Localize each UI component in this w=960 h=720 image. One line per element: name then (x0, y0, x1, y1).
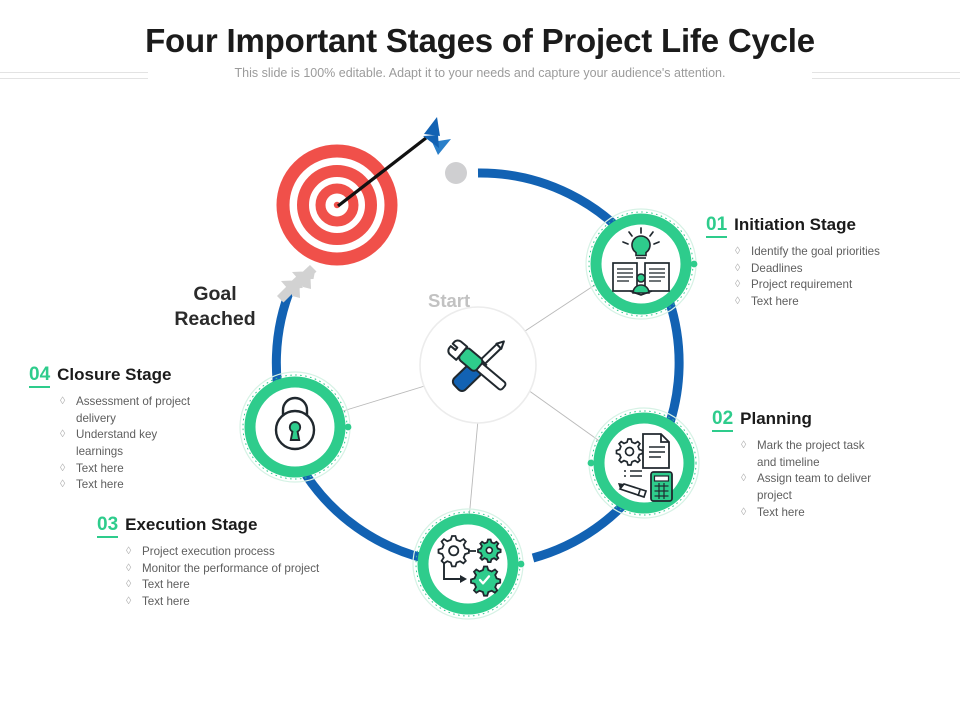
list-item: ◊Deadlines (729, 261, 880, 278)
center-hub[interactable] (420, 307, 536, 423)
list-item: ◊Text here (735, 505, 877, 522)
stage-title-04: Closure Stage (57, 365, 171, 385)
arc-03-to-04 (306, 475, 423, 558)
node-02[interactable] (588, 408, 699, 518)
bullet-text: Text here (76, 478, 124, 491)
bullet-text: Text here (751, 295, 799, 308)
start-label: Start (428, 290, 470, 312)
list-item: ◊Text here (54, 477, 196, 494)
diamond-bullet-icon: ◊ (735, 261, 740, 276)
start-dot (445, 162, 467, 184)
goal-label-line-2: Reached (174, 308, 255, 330)
node-04[interactable] (240, 372, 351, 482)
list-item: ◊Monitor the performance of project (120, 561, 319, 578)
diamond-bullet-icon: ◊ (735, 277, 740, 292)
list-item: ◊Text here (120, 594, 319, 611)
diamond-bullet-icon: ◊ (735, 294, 740, 309)
stage-title-01: Initiation Stage (734, 215, 856, 235)
stage-block-02: 02 Planning ◊Mark the project task and t… (715, 409, 877, 521)
bullet-text: Identify the goal priorities (751, 245, 880, 258)
stage-title-03: Execution Stage (125, 515, 257, 535)
diamond-bullet-icon: ◊ (741, 438, 746, 453)
list-item: ◊Text here (54, 461, 196, 478)
stage-block-01: 01 Initiation Stage ◊Identify the goal p… (709, 215, 880, 311)
page-subtitle: This slide is 100% editable. Adapt it to… (0, 66, 960, 80)
stage-heading-02: 02 Planning (712, 409, 877, 432)
bullet-text: Assign team to deliver project (757, 472, 871, 502)
bullet-text: Deadlines (751, 262, 803, 275)
bullet-text: Text here (76, 462, 124, 475)
stage-bullets-02: ◊Mark the project task and timeline ◊Ass… (735, 438, 877, 521)
diamond-bullet-icon: ◊ (126, 594, 131, 609)
bullet-text: Understand key learnings (76, 428, 157, 458)
stage-number-02: 02 (712, 409, 733, 432)
stage-heading-04: 04 Closure Stage (29, 365, 196, 388)
target-bullseye-icon (283, 151, 391, 259)
list-item: ◊Understand key learnings (54, 427, 196, 460)
goal-label-line-1: Goal (193, 283, 236, 305)
diamond-bullet-icon: ◊ (60, 427, 65, 442)
list-item: ◊Assign team to deliver project (735, 471, 877, 504)
bullet-text: Text here (757, 506, 805, 519)
stage-bullets-03: ◊Project execution process ◊Monitor the … (120, 544, 319, 611)
bullet-text: Monitor the performance of project (142, 562, 319, 575)
goal-reached-label: Goal Reached (150, 282, 280, 332)
stage-number-03: 03 (97, 515, 118, 538)
stage-bullets-01: ◊Identify the goal priorities ◊Deadlines… (729, 244, 880, 311)
diamond-bullet-icon: ◊ (126, 544, 131, 559)
node-01[interactable] (586, 209, 697, 319)
page-title: Four Important Stages of Project Life Cy… (0, 22, 960, 60)
list-item: ◊Assessment of project delivery (54, 394, 196, 427)
node-03[interactable] (413, 509, 524, 619)
list-item: ◊Text here (120, 577, 319, 594)
list-item: ◊Project requirement (729, 277, 880, 294)
bullet-text: Text here (142, 595, 190, 608)
slide-canvas: Four Important Stages of Project Life Cy… (0, 0, 960, 720)
stage-number-04: 04 (29, 365, 50, 388)
diamond-bullet-icon: ◊ (735, 244, 740, 259)
list-item: ◊Identify the goal priorities (729, 244, 880, 261)
bullet-text: Text here (142, 578, 190, 591)
stage-title-02: Planning (740, 409, 812, 429)
diamond-bullet-icon: ◊ (126, 561, 131, 576)
bullet-text: Project execution process (142, 545, 275, 558)
stage-block-04: 04 Closure Stage ◊Assessment of project … (32, 365, 196, 494)
diamond-bullet-icon: ◊ (60, 394, 65, 409)
bullet-text: Assessment of project delivery (76, 395, 190, 425)
stage-number-01: 01 (706, 215, 727, 238)
bullet-text: Project requirement (751, 278, 852, 291)
list-item: ◊Text here (729, 294, 880, 311)
list-item: ◊Mark the project task and timeline (735, 438, 877, 471)
stage-heading-03: 03 Execution Stage (97, 515, 319, 538)
bullet-text: Mark the project task and timeline (757, 439, 865, 469)
stage-bullets-04: ◊Assessment of project delivery ◊Underst… (54, 394, 196, 494)
diamond-bullet-icon: ◊ (741, 471, 746, 486)
diamond-bullet-icon: ◊ (741, 505, 746, 520)
goal-chevron-icon (277, 265, 317, 303)
diamond-bullet-icon: ◊ (60, 477, 65, 492)
stage-heading-01: 01 Initiation Stage (706, 215, 880, 238)
list-item: ◊Project execution process (120, 544, 319, 561)
diamond-bullet-icon: ◊ (60, 461, 65, 476)
diamond-bullet-icon: ◊ (126, 577, 131, 592)
stage-block-03: 03 Execution Stage ◊Project execution pr… (100, 515, 319, 611)
